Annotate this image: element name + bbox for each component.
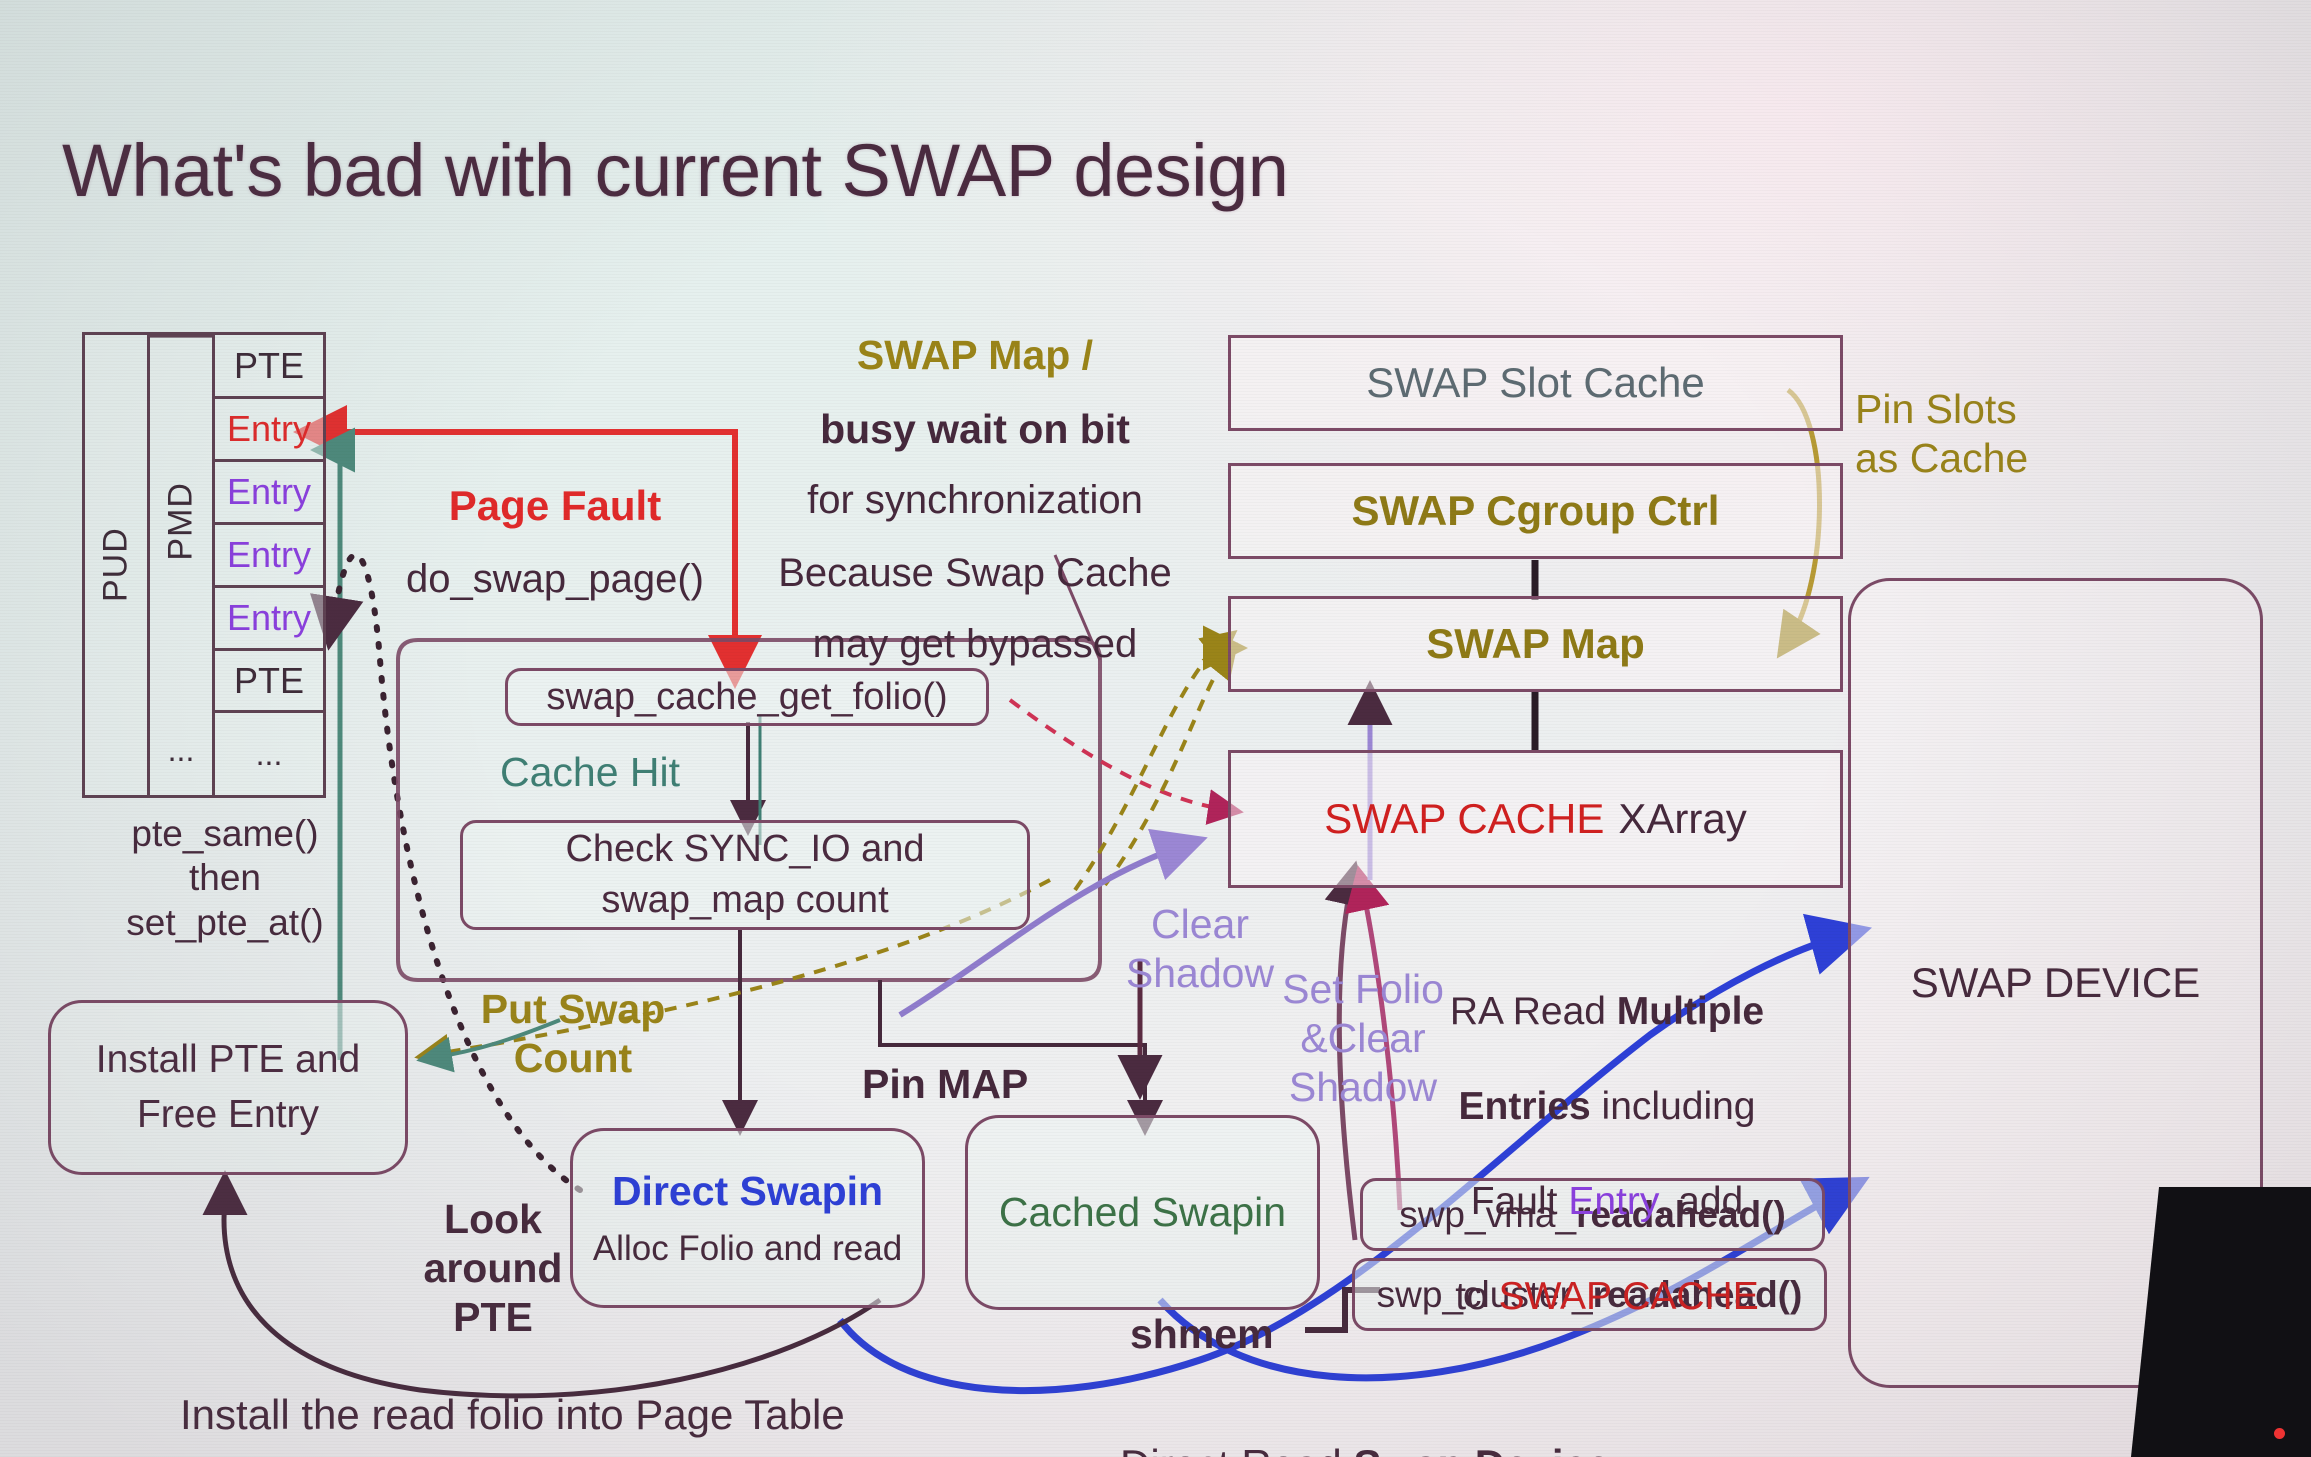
shmem-label: shmem [1130, 1310, 1274, 1359]
screen-edge-shadow [2131, 1187, 2311, 1457]
page-fault-fn: do_swap_page() [390, 555, 720, 603]
bypass-line2: may get bypassed [760, 620, 1190, 668]
swap-map-label: SWAP Map [1426, 619, 1645, 669]
look-around-pte-label: Look around PTE [398, 1195, 588, 1343]
pin-map-label: Pin MAP [862, 1060, 1028, 1109]
pin-slots-label: Pin Slots as Cache [1855, 385, 2095, 483]
check-sync-io-box[interactable]: Check SYNC_IO and swap_map count [460, 820, 1030, 930]
cached-swapin-label: Cached Swapin [999, 1188, 1286, 1236]
ra-read-t4: including [1591, 1085, 1756, 1128]
ra-read-t2: Multiple [1617, 990, 1764, 1033]
bottom-caption-right: Direct Read Swap Device [1120, 1390, 1610, 1457]
page-fault-label: Page Fault do_swap_page() [390, 462, 720, 622]
page-fault-title: Page Fault [390, 481, 720, 531]
pte-cell-0: PTE [215, 335, 323, 399]
ra-read-t9: SWAP CACHE [1499, 1275, 1759, 1318]
pte-cell-4: Entry [215, 588, 323, 651]
check-sync-line2: swap_map count [601, 878, 888, 923]
busy-wait-text: busy wait on bit [765, 405, 1185, 454]
bypass-line1: Because Swap Cache [760, 549, 1190, 597]
swap-cache-xarray-box[interactable]: SWAP CACHE XArray [1228, 750, 1843, 888]
pmd-ellipsis: ... [150, 706, 212, 795]
page-table-caption: pte_same() then set_pte_at() [110, 812, 340, 945]
ra-read-t7: , add [1656, 1180, 1743, 1223]
direct-swapin-title: Direct Swapin [612, 1167, 883, 1215]
pte-cell-3: Entry [215, 525, 323, 588]
swap-map-annot-head: SWAP Map / [765, 331, 1185, 380]
cached-swapin-box[interactable]: Cached Swapin [965, 1115, 1320, 1310]
bypass-annotation: Because Swap Cache may get bypassed [760, 530, 1190, 688]
bottom-caption-right-bold: Swap Device [1353, 1441, 1610, 1457]
ra-read-t6: Entry [1568, 1180, 1656, 1223]
install-pte-line1: Install PTE and [96, 1037, 360, 1083]
pte-cell-6: ... [215, 713, 323, 795]
pte-cell-2: Entry [215, 462, 323, 525]
swap-cache-red-label: SWAP CACHE [1324, 794, 1604, 844]
put-swap-count-label: Put Swap Count [458, 985, 688, 1083]
install-pte-line2: Free Entry [137, 1092, 319, 1138]
swap-map-annotation: SWAP Map / busy wait on bit for synchron… [765, 312, 1185, 543]
pte-cell-1: Entry [215, 399, 323, 462]
ra-read-t8: to [1455, 1275, 1498, 1318]
slide-canvas: What's bad with current SWAP design [0, 0, 2311, 1457]
direct-swapin-sub: Alloc Folio and read [593, 1228, 902, 1269]
pte-cell-5: PTE [215, 651, 323, 713]
swap-map-box[interactable]: SWAP Map [1228, 596, 1843, 692]
check-sync-line1: Check SYNC_IO and [565, 827, 924, 872]
swap-cgroup-ctrl-box[interactable]: SWAP Cgroup Ctrl [1228, 463, 1843, 559]
swap-cgroup-ctrl-label: SWAP Cgroup Ctrl [1352, 486, 1720, 536]
bottom-caption-left: Install the read folio into Page Table [180, 1390, 845, 1440]
swap-cache-xarray-label: XArray [1618, 794, 1746, 844]
pud-label: PUD [85, 335, 147, 795]
bottom-caption-right-pre: Direct Read [1120, 1441, 1353, 1457]
ra-read-t1: RA Read [1450, 990, 1617, 1033]
install-pte-box[interactable]: Install PTE and Free Entry [48, 1000, 408, 1175]
indicator-dot [2274, 1428, 2285, 1439]
swap-slot-cache-label: SWAP Slot Cache [1366, 358, 1704, 408]
pmd-label: PMD [150, 335, 212, 706]
ra-read-t3: Entries [1459, 1085, 1591, 1128]
ra-read-annotation: RA Read Multiple Entries including Fault… [1432, 940, 1782, 1321]
cache-hit-label: Cache Hit [500, 748, 680, 797]
swap-device-label: SWAP DEVICE [1911, 958, 2200, 1008]
swap-slot-cache-box[interactable]: SWAP Slot Cache [1228, 335, 1843, 431]
direct-swapin-box[interactable]: Direct Swapin Alloc Folio and read [570, 1128, 925, 1308]
page-table: PUD PMD ... PTE Entry Entry Entry Entry … [82, 332, 326, 798]
ra-read-t5: Fault [1471, 1180, 1569, 1223]
for-sync-text: for synchronization [765, 476, 1185, 524]
